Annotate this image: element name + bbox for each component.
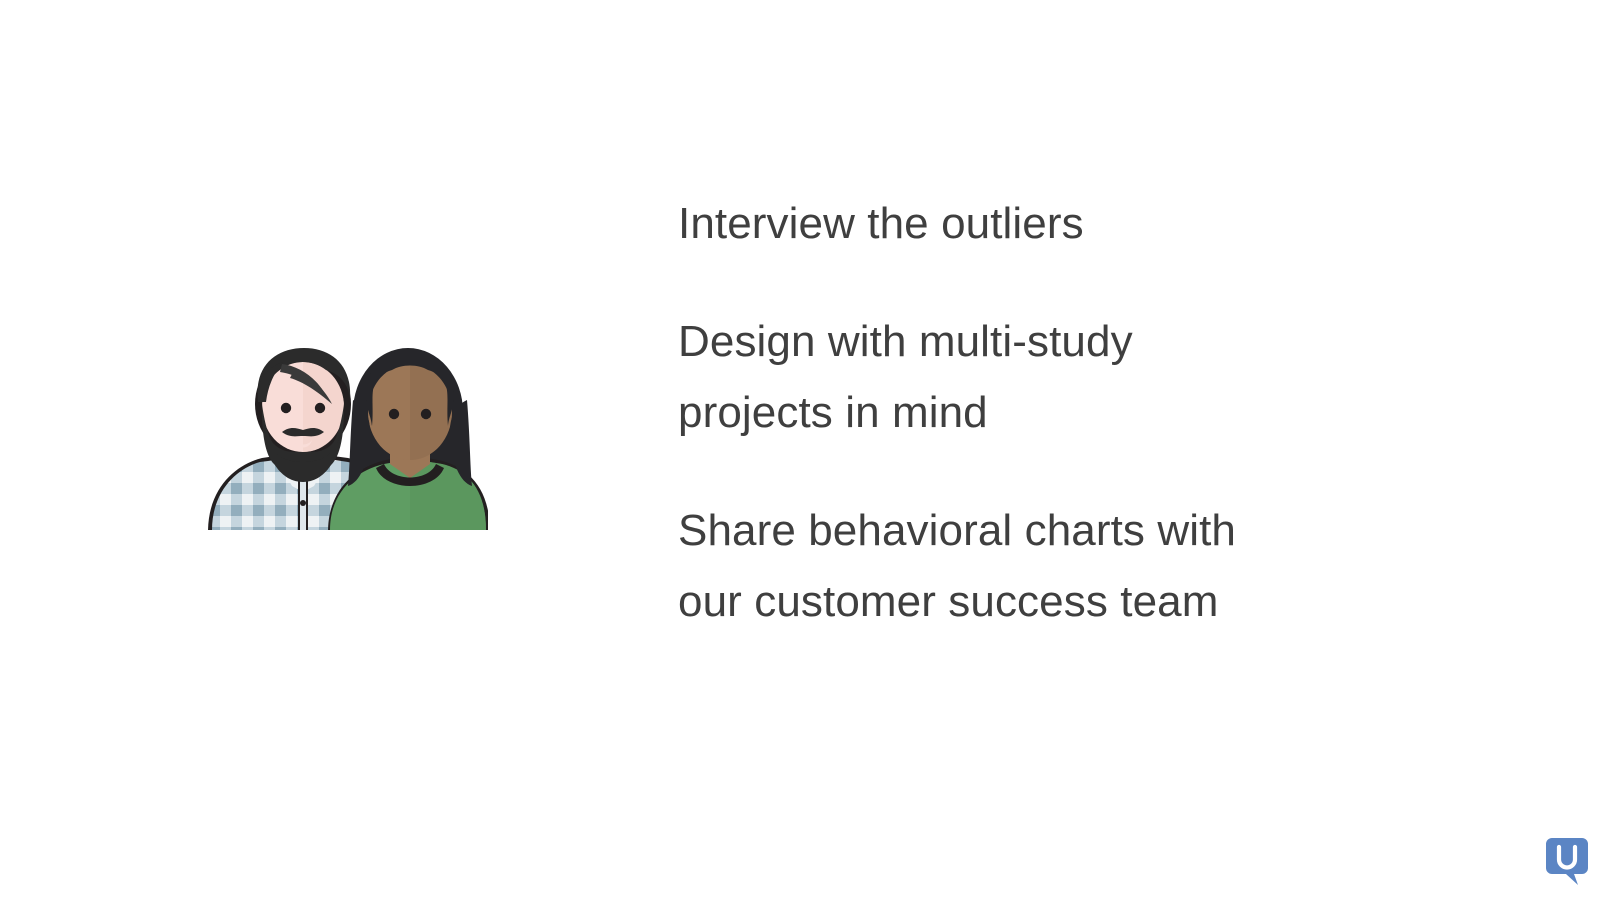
statement-3: Share behavioral charts with our custome… — [678, 495, 1378, 637]
slide-canvas: Interview the outliers Design with multi… — [0, 0, 1600, 897]
statement-2: Design with multi-study projects in mind — [678, 306, 1378, 448]
statement-1: Interview the outliers — [678, 188, 1378, 259]
two-people-avatar-illustration — [198, 340, 488, 530]
speech-bubble-shape — [1546, 838, 1588, 885]
statements-list: Interview the outliers Design with multi… — [678, 188, 1378, 637]
usertesting-logo — [1546, 838, 1588, 886]
